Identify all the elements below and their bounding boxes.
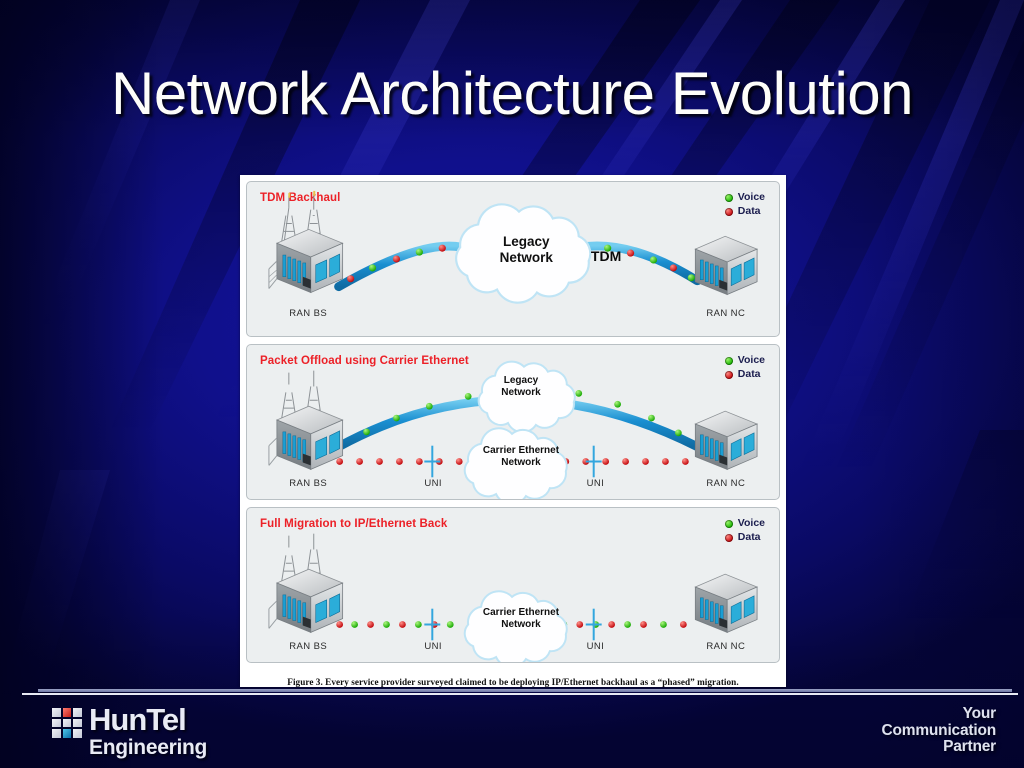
logo-cell (52, 708, 61, 717)
cloud-label-carrier-ethernet-network: Carrier Ethernet Network (483, 607, 559, 631)
brand-division: Engineering (89, 735, 207, 760)
logo-cell (52, 719, 61, 728)
network-architecture-figure: TDM Backhaul Voice Data (240, 175, 786, 687)
logo-cell-red (63, 708, 72, 717)
cloud-label-legacy-network: Legacy Network (500, 234, 553, 266)
uni-label-right: UNI (587, 478, 605, 489)
node-label-ran-bs: RAN BS (289, 308, 327, 319)
logo-cell-teal (63, 729, 72, 738)
tagline-line-1: Your (881, 706, 996, 723)
logo-cell (73, 719, 82, 728)
cloud-label-carrier-ethernet-network: Carrier Ethernet Network (483, 446, 559, 470)
tagline-line-2: Communication (881, 723, 996, 740)
footer-divider (0, 688, 1024, 698)
cloud-label-legacy-network: Legacy Network (501, 376, 540, 400)
divider-line-thin (22, 693, 1018, 695)
logo-cell (63, 719, 72, 728)
brand-tagline: Your Communication Partner (881, 706, 996, 756)
node-label-ran-nc: RAN NC (706, 478, 745, 489)
node-label-ran-bs: RAN BS (289, 641, 327, 652)
tdm-label: TDM (591, 248, 621, 264)
huntel-grid-icon (52, 708, 82, 738)
brand-wordmark: HunTel Engineering (89, 704, 207, 760)
page-title: Network Architecture Evolution (0, 62, 1024, 125)
figure-caption: Figure 3. Every service provider surveye… (246, 670, 780, 687)
node-label-ran-nc: RAN NC (706, 308, 745, 319)
panel-full-migration: Full Migration to IP/Ethernet Back Voice… (246, 507, 780, 663)
panel-tdm-backhaul: TDM Backhaul Voice Data (246, 181, 780, 337)
logo-cell (73, 729, 82, 738)
brand-logo: HunTel Engineering (52, 704, 207, 760)
uni-label-left: UNI (424, 641, 442, 652)
divider-line-thick (38, 689, 1012, 692)
uni-label-left: UNI (424, 478, 442, 489)
uni-label-right: UNI (587, 641, 605, 652)
brand-name: HunTel (89, 704, 207, 735)
node-label-ran-bs: RAN BS (289, 478, 327, 489)
tagline-line-3: Partner (881, 739, 996, 756)
panel-diagram (247, 345, 779, 499)
panel-packet-offload: Packet Offload using Carrier Ethernet Vo… (246, 344, 780, 500)
node-label-ran-nc: RAN NC (706, 641, 745, 652)
logo-cell (52, 729, 61, 738)
logo-cell (73, 708, 82, 717)
panel-diagram (247, 508, 779, 662)
